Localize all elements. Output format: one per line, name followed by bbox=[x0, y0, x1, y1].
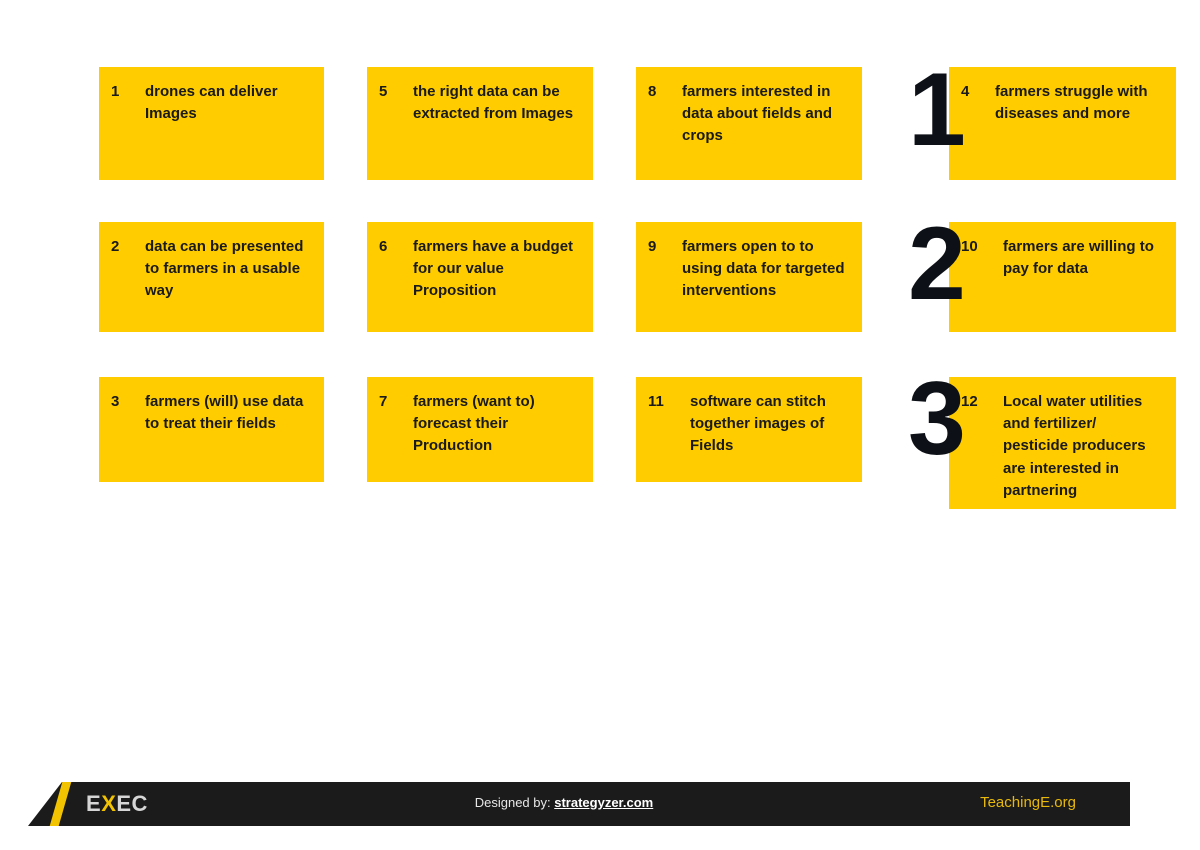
card-text: farmers (will) use data to treat their f… bbox=[145, 391, 312, 435]
card-6[interactable]: 6 farmers have a budget for our value Pr… bbox=[367, 222, 593, 332]
card-text: farmers interested in data about fields … bbox=[682, 81, 850, 148]
card-number: 5 bbox=[379, 81, 413, 103]
teachinge-link[interactable]: TeachingE.org bbox=[980, 794, 1076, 811]
card-text: software can stitch together images of F… bbox=[690, 391, 850, 458]
card-text: data can be presented to farmers in a us… bbox=[145, 236, 312, 303]
card-5[interactable]: 5 the right data can be extracted from I… bbox=[367, 67, 593, 180]
footer-bar: EXEC Designed by: strategyzer.com Teachi… bbox=[28, 782, 1130, 826]
card-text: Local water utilities and fertilizer/ pe… bbox=[1003, 391, 1164, 502]
card-text: farmers (want to) forecast their Product… bbox=[413, 391, 581, 458]
designed-by-credit: Designed by: strategyzer.com bbox=[28, 795, 1130, 810]
card-text: farmers open to to using data for target… bbox=[682, 236, 850, 303]
strategyzer-link[interactable]: strategyzer.com bbox=[554, 795, 653, 810]
assumptions-board: 1 drones can deliver Images 2 data can b… bbox=[0, 0, 1200, 850]
card-number: 2 bbox=[111, 236, 145, 258]
card-text: farmers have a budget for our value Prop… bbox=[413, 236, 581, 303]
card-text: farmers are willing to pay for data bbox=[1003, 236, 1164, 280]
rank-numeral-2: 2 bbox=[908, 212, 962, 316]
card-4[interactable]: 4 farmers struggle with diseases and mor… bbox=[949, 67, 1176, 180]
card-text: drones can deliver Images bbox=[145, 81, 312, 125]
card-number: 6 bbox=[379, 236, 413, 258]
card-number: 3 bbox=[111, 391, 145, 413]
card-number: 8 bbox=[648, 81, 682, 103]
card-1[interactable]: 1 drones can deliver Images bbox=[99, 67, 324, 180]
designed-by-label: Designed by: bbox=[475, 795, 551, 810]
card-11[interactable]: 11 software can stitch together images o… bbox=[636, 377, 862, 482]
card-7[interactable]: 7 farmers (want to) forecast their Produ… bbox=[367, 377, 593, 482]
card-3[interactable]: 3 farmers (will) use data to treat their… bbox=[99, 377, 324, 482]
card-9[interactable]: 9 farmers open to to using data for targ… bbox=[636, 222, 862, 332]
card-12[interactable]: 12 Local water utilities and fertilizer/… bbox=[949, 377, 1176, 509]
card-number: 11 bbox=[648, 391, 690, 413]
card-number: 7 bbox=[379, 391, 413, 413]
rank-numeral-1: 1 bbox=[908, 58, 962, 162]
card-text: the right data can be extracted from Ima… bbox=[413, 81, 581, 125]
card-number: 1 bbox=[111, 81, 145, 103]
card-2[interactable]: 2 data can be presented to farmers in a … bbox=[99, 222, 324, 332]
card-number: 10 bbox=[961, 236, 1003, 258]
card-number: 4 bbox=[961, 81, 995, 103]
card-text: farmers struggle with diseases and more bbox=[995, 81, 1164, 125]
card-10[interactable]: 10 farmers are willing to pay for data bbox=[949, 222, 1176, 332]
card-number: 9 bbox=[648, 236, 682, 258]
rank-numeral-3: 3 bbox=[908, 367, 962, 471]
card-8[interactable]: 8 farmers interested in data about field… bbox=[636, 67, 862, 180]
card-number: 12 bbox=[961, 391, 1003, 413]
